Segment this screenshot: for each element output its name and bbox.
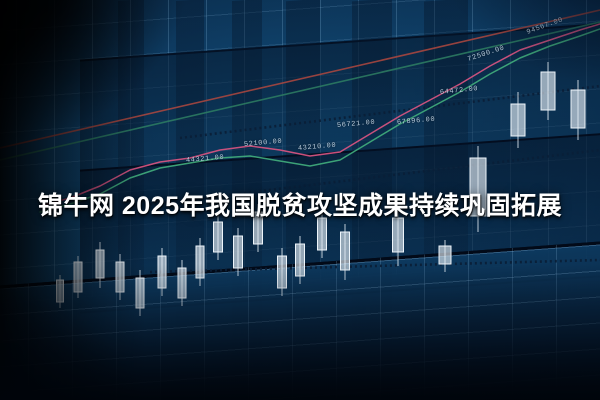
chart-background-image: 44321.0052100.0043210.0056721.0067896.00…	[0, 0, 600, 400]
headline-text: 锦牛网 2025年我国脱贫攻坚成果持续巩固拓展	[0, 186, 600, 222]
